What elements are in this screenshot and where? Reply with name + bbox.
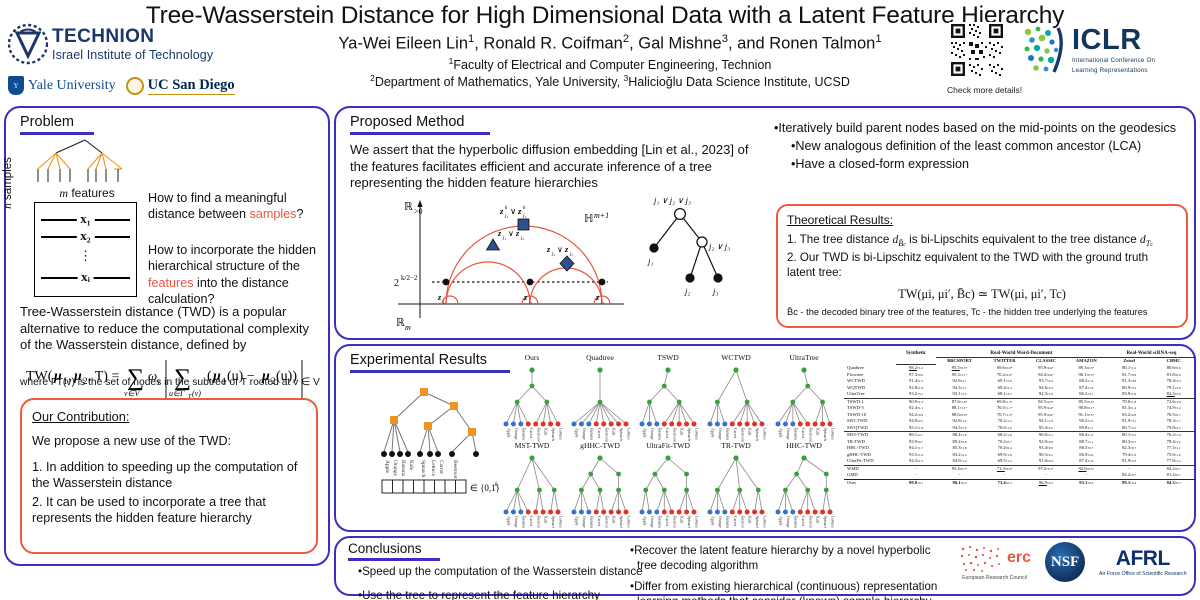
ucsd-logo: UC San Diego	[126, 77, 235, 95]
svg-text:Apple: Apple	[643, 516, 648, 526]
matrix-row-ellipsis: ⋮	[75, 248, 96, 264]
svg-text:z: z	[499, 206, 504, 216]
svg-text:z: z	[523, 293, 528, 302]
col-header-classic: CLASSIC	[1026, 358, 1066, 365]
experimental-title: Experimental Results	[350, 352, 510, 368]
hyperbolic-embedding-diagram: ℝ >0 ℝ m ℍ m+1 2 k/2−2 z j₁	[392, 186, 732, 334]
col-header-cbmc: CBMC	[1151, 358, 1196, 365]
svg-text:Orange: Orange	[392, 460, 398, 476]
svg-text:Spinach: Spinach	[619, 428, 624, 441]
svg-text:Banana: Banana	[521, 516, 526, 528]
svg-text:Apple: Apple	[711, 516, 716, 526]
svg-text:∨: ∨	[557, 245, 563, 254]
svg-text:Kale: Kale	[680, 428, 685, 436]
table-cell: 72.6±1.8	[1151, 398, 1196, 405]
row-label: TSWD-1	[844, 398, 896, 405]
table-cell: 87.6±1.9*	[936, 398, 983, 405]
tree-2: AppleOrangeBananaCarrotBeetrootKaleSpina…	[640, 367, 700, 442]
svg-text:Spinach: Spinach	[823, 428, 828, 441]
results-table-head: Synthetic Real-World Word-Document Real-…	[844, 350, 1196, 365]
method-bullet-list: •Iteratively build parent nodes based on…	[774, 120, 1190, 174]
svg-text:Lettuce: Lettuce	[763, 516, 768, 528]
row-label: WMD	[844, 465, 896, 472]
svg-text:Beetroot: Beetroot	[536, 428, 541, 443]
contribution-item-1: 1. In addition to speeding up the comput…	[32, 459, 306, 491]
yale-logo: Y Yale University	[8, 76, 116, 95]
svg-text:Spinach: Spinach	[823, 516, 828, 528]
svg-text:Orange: Orange	[514, 428, 519, 440]
tree-8: AppleOrangeBananaCarrotBeetrootKaleSpina…	[708, 455, 768, 528]
svg-text:j₁: j₁	[504, 213, 509, 219]
table-cell: 88.1±2.7	[896, 432, 936, 439]
svg-text:Lettuce: Lettuce	[627, 516, 632, 528]
conclusions-left-list: •Speed up the computation of the Wassers…	[358, 564, 658, 600]
svg-text:Apple: Apple	[779, 516, 784, 526]
table-cell: 89.1±0.4	[1107, 479, 1151, 486]
table-cell: 93.1±1.5	[936, 391, 983, 398]
yale-shield-icon: Y	[8, 76, 24, 95]
svg-text:Lettuce: Lettuce	[559, 428, 564, 440]
row-label: SWQTWD	[844, 425, 896, 432]
problem-title: Problem	[20, 114, 94, 130]
table-cell: 84.3±0.3	[1151, 479, 1196, 486]
svg-text:Spinach: Spinach	[551, 516, 556, 528]
svg-text:Apple: Apple	[711, 428, 716, 438]
svg-text:j₃: j₃	[600, 300, 604, 305]
svg-text:Carrot: Carrot	[665, 428, 670, 439]
svg-text:Carrot: Carrot	[529, 428, 534, 439]
table-cell: 80.1±3.3	[1107, 432, 1151, 439]
svg-text:∨: ∨	[508, 229, 514, 238]
table-cell: -	[896, 465, 936, 472]
svg-text:Quadtree: Quadtree	[586, 353, 614, 362]
svg-text:∨: ∨	[510, 206, 516, 216]
table-cell: 70.6±1.9	[983, 425, 1026, 432]
svg-text:j₁: j₁	[502, 236, 506, 241]
svg-text:Banana: Banana	[725, 516, 730, 528]
table-cell: -	[896, 472, 936, 479]
matrix-row-i: xᵢ	[77, 269, 94, 285]
theoretical-results-box: Theoretical Results: 1. The tree distanc…	[776, 204, 1188, 328]
svg-text:Lettuce: Lettuce	[627, 428, 632, 440]
table-cell: 69.8±1.3*	[983, 398, 1026, 405]
nsf-name: NSF	[1051, 554, 1079, 571]
svg-text:ℝ: ℝ	[396, 317, 405, 329]
svg-text:Lettuce: Lettuce	[695, 428, 700, 440]
svg-text:Carrot: Carrot	[665, 516, 670, 527]
svg-text:Carrot: Carrot	[529, 516, 534, 527]
erc-logo: erc European Research Council	[958, 543, 1031, 581]
affiliation-2: 2Department of Mathematics, Yale Univers…	[250, 73, 970, 89]
table-cell: 68.2±1.8	[983, 432, 1026, 439]
svg-text:m+1: m+1	[594, 211, 609, 220]
group-word-document: Real-World Word-Document	[936, 350, 1107, 358]
svg-text:z: z	[517, 206, 522, 216]
table-cell: 84.2±0.7	[1151, 465, 1196, 472]
tree-7: AppleOrangeBananaCarrotBeetrootKaleSpina…	[640, 455, 700, 528]
ground-truth-tree-diagram: Apple Orange Banana Kale Spinach Lettuce…	[380, 380, 500, 500]
svg-text:Orange: Orange	[582, 516, 587, 528]
svg-text:Orange: Orange	[718, 516, 723, 528]
svg-text:(v): (v)	[192, 389, 201, 398]
contribution-item-2: 2. It can be used to incorporate a tree …	[32, 494, 306, 526]
data-matrix: x₁ x₂ ⋮ xᵢ	[34, 202, 137, 297]
svg-text:Apple: Apple	[575, 516, 580, 526]
method-bullet-1: Iteratively build parent nodes based on …	[778, 121, 1176, 135]
panel-conclusions: Conclusions •Speed up the computation of…	[334, 536, 1196, 596]
table-cell: 69.6±0.8*	[983, 365, 1026, 372]
svg-text:Spinach: Spinach	[551, 428, 556, 441]
svg-text:Lettuce: Lettuce	[763, 428, 768, 440]
table-cell: 90.0±3.1	[1026, 432, 1066, 439]
matrix-row-1: x₁	[76, 211, 94, 227]
erc-dots-icon	[958, 543, 1004, 573]
question-1: How to find a meaningful distance betwee…	[148, 190, 324, 223]
page-title: Tree-Wasserstein Distance for High Dimen…	[140, 2, 1070, 30]
iclr-name: ICLR	[1072, 26, 1155, 55]
svg-text:j₁ ∨ j₂ ∨ j₃: j₁ ∨ j₂ ∨ j₃	[653, 195, 691, 205]
tree-1: AppleOrangeBananaCarrotBeetrootKaleSpina…	[572, 367, 632, 442]
table-cell: 71.3±0.6*	[983, 465, 1026, 472]
tree-6: AppleOrangeBananaCarrotBeetrootKaleSpina…	[572, 455, 632, 528]
author-list: Ya-Wei Eileen Lin1, Ronald R. Coifman2, …	[300, 33, 920, 54]
svg-text:Kale: Kale	[408, 460, 414, 471]
table-cell: 87.4±1.6	[1066, 458, 1107, 465]
svg-text:Beetroot: Beetroot	[808, 516, 813, 528]
erc-subtitle: European Research Council	[958, 575, 1031, 581]
table-cell: 82.3±2.6	[1151, 391, 1196, 398]
svg-text:Banana: Banana	[521, 428, 526, 440]
svg-text:Apple: Apple	[643, 428, 648, 438]
svg-text:j₁: j₁	[442, 300, 446, 305]
row-label: UltraFit-TWD	[844, 458, 896, 465]
conclusion-left-2: Use the tree to represent the feature hi…	[362, 589, 600, 600]
tree-comparison-grid: OursQuadtreeTSWD WCTWDUltraTree MST-TWDg…	[496, 352, 844, 528]
svg-text:z: z	[564, 245, 569, 254]
svg-text:j₁: j₁	[647, 256, 653, 266]
tree-0: AppleOrangeBananaCarrotBeetrootKaleSpina…	[504, 367, 564, 442]
svg-text:Carrot: Carrot	[733, 428, 738, 439]
method-title: Proposed Method	[350, 114, 490, 130]
theoretical-item-2: 2. Our TWD is bi-Lipschitz equivalent to…	[787, 250, 1177, 280]
svg-text:WCTWD: WCTWD	[721, 353, 751, 362]
svg-text:Carrot: Carrot	[597, 428, 602, 439]
svg-text:Orange: Orange	[650, 428, 655, 440]
matrix-row-2: x₂	[76, 228, 94, 244]
table-cell: 95.9±0.4*	[1026, 365, 1066, 372]
table-cell: 80.1±1.2	[1107, 365, 1151, 372]
svg-text:2: 2	[394, 278, 399, 289]
svg-text:Banana: Banana	[589, 428, 594, 440]
svg-text:j₃: j₃	[569, 252, 573, 257]
method-title-rule	[350, 132, 490, 135]
svg-text:Ours: Ours	[525, 353, 540, 362]
table-cell: 95.5±0.5*	[936, 365, 983, 372]
m-features-label: m features	[32, 186, 142, 201]
table-cell: 95.4±2.0	[1026, 425, 1066, 432]
table-cell: 83.9±1.6	[1107, 391, 1151, 398]
svg-text:Apple: Apple	[779, 428, 784, 438]
table-cell: 97.2±0.1*	[1026, 465, 1066, 472]
table-cell: 94.5±0.5*	[1026, 398, 1066, 405]
table-cell: 81.9±3.3	[1107, 458, 1151, 465]
tree-9: AppleOrangeBananaCarrotBeetrootKaleSpina…	[776, 455, 836, 528]
table-cell: 89.8±1.1	[1066, 425, 1107, 432]
svg-text:Kale: Kale	[544, 428, 549, 436]
table-cell: 95.1±1.8	[896, 425, 936, 432]
svg-text:Spinach: Spinach	[687, 516, 692, 528]
svg-text:k/2−2: k/2−2	[401, 274, 418, 282]
svg-text:Banana: Banana	[793, 428, 798, 440]
table-cell: 86.4±1.2	[1066, 432, 1107, 439]
svg-text:z: z	[546, 245, 551, 254]
svg-text:Kale: Kale	[748, 516, 753, 524]
table-row: GMD-----84.2±0.781.4±0.7	[844, 472, 1196, 479]
svg-text:Kale: Kale	[612, 516, 617, 524]
svg-text:Banana: Banana	[657, 428, 662, 440]
tree-4: AppleOrangeBananaCarrotBeetrootKaleSpina…	[776, 367, 836, 442]
formula-caption: where ΓT(v) is the set of nodes in the s…	[20, 376, 322, 388]
poster-header: TECHNION Israel Institute of Technology …	[0, 0, 1200, 104]
contribution-box: Our Contribution: We propose a new use o…	[20, 398, 318, 554]
svg-text:Banana: Banana	[589, 516, 594, 528]
method-bullet-3: Have a closed-form expression	[795, 157, 969, 171]
table-cell: 96.9±0.2	[1026, 479, 1066, 486]
technion-subtitle: Israel Institute of Technology	[52, 48, 213, 62]
table-cell: -	[936, 472, 983, 479]
ucsd-seal-icon	[126, 77, 144, 95]
svg-text:ℍ: ℍ	[584, 213, 593, 225]
svg-text:ℝ: ℝ	[404, 201, 413, 213]
conclusions-title: Conclusions	[348, 541, 440, 556]
table-cell: -	[1026, 472, 1066, 479]
iclr-mark-icon	[1018, 24, 1066, 76]
table-cell: -	[1066, 472, 1107, 479]
svg-text:Kale: Kale	[680, 516, 685, 524]
svg-text:Lettuce: Lettuce	[831, 428, 836, 440]
svg-text:Banana: Banana	[793, 516, 798, 528]
svg-text:Banana: Banana	[725, 428, 730, 440]
method-intro: We assert that the hyperbolic diffusion …	[350, 142, 760, 192]
afrl-subtitle: Air Force Office of Scientific Research	[1099, 571, 1187, 578]
table-cell: 96.1±0.4	[936, 479, 983, 486]
col-header-bbcsport: BBCSPORT	[936, 358, 983, 365]
tree-5: AppleOrangeBananaCarrotBeetrootKaleSpina…	[504, 455, 564, 528]
table-cell: 90.9±1.3	[896, 398, 936, 405]
table-cell: 86.2±3.1	[1066, 391, 1107, 398]
svg-text:Carrot: Carrot	[801, 516, 806, 527]
svg-text:TSWD: TSWD	[657, 353, 679, 362]
svg-text:k: k	[523, 205, 526, 211]
funder-logos: erc European Research Council NSF AFRL A…	[958, 542, 1187, 582]
group-header-row: Synthetic Real-World Word-Document Real-…	[844, 350, 1196, 358]
svg-text:j₂: j₂	[551, 252, 555, 257]
table-cell: 81.4±0.7	[1151, 472, 1196, 479]
panel-problem: Problem m features x₁ x₂	[4, 106, 330, 566]
svg-text:gHHC-TWD: gHHC-TWD	[580, 441, 620, 450]
table-row: UltraTree93.2±3.193.1±1.568.1±3.292.3±1.…	[844, 391, 1196, 398]
poster-root: TECHNION Israel Institute of Technology …	[0, 0, 1200, 600]
iclr-subtitle-2: Learning Representations	[1072, 68, 1155, 74]
svg-text:Lettuce: Lettuce	[831, 516, 836, 528]
svg-text:Lettuce: Lettuce	[559, 516, 564, 528]
table-cell: 99.8±0.1	[896, 479, 936, 486]
table-cell: 94.5±1.0	[936, 425, 983, 432]
svg-text:Apple: Apple	[507, 516, 512, 526]
experimental-title-rule	[350, 370, 510, 373]
svg-text:Beetroot: Beetroot	[604, 516, 609, 528]
iclr-logo: ICLR International Conference On Learnin…	[1018, 24, 1155, 76]
table-row: MST-TWD88.1±2.788.4±1.968.2±1.890.0±3.18…	[844, 432, 1196, 439]
svg-text:Kale: Kale	[816, 516, 821, 524]
group-scrna: Real-World scRNA-seq	[1107, 350, 1196, 358]
svg-text:Lettuce: Lettuce	[430, 460, 436, 477]
contribution-lead: We propose a new use of the TWD:	[32, 433, 306, 449]
svg-text:Beetroot: Beetroot	[536, 516, 541, 528]
qr-code-block[interactable]: Check more details!	[947, 22, 1007, 95]
col-header-amazon: AMAZON	[1066, 358, 1107, 365]
svg-text:z: z	[437, 293, 442, 302]
svg-text:Kale: Kale	[816, 428, 821, 436]
table-cell: 79.6±1.8	[1107, 398, 1151, 405]
results-table: Synthetic Real-World Word-Document Real-…	[844, 350, 1196, 486]
table-cell: 84.9±1.4	[936, 458, 983, 465]
qr-code-icon[interactable]	[949, 22, 1005, 78]
method-bullet-2: New analogous definition of the least co…	[795, 139, 1141, 153]
svg-text:j₂: j₂	[520, 236, 524, 241]
twd-intro: Tree-Wasserstein distance (TWD) is a pop…	[20, 304, 320, 354]
table-cell: 85.5±0.6*	[1066, 398, 1107, 405]
table-cell: 92.3±1.9	[1026, 391, 1066, 398]
svg-text:j₂: j₂	[528, 300, 532, 305]
n-samples-label: n samples	[2, 148, 14, 218]
table-cell: 95.4±0.7*	[936, 465, 983, 472]
svg-text:Orange: Orange	[786, 516, 791, 528]
table-cell: -	[1107, 465, 1151, 472]
tree-3: AppleOrangeBananaCarrotBeetrootKaleSpina…	[708, 367, 768, 442]
svg-text:Kale: Kale	[748, 428, 753, 436]
svg-text:Spinach: Spinach	[755, 428, 760, 441]
svg-text:Beetroot: Beetroot	[452, 460, 458, 479]
conclusion-right-2: Differ from existing hierarchical (conti…	[634, 580, 937, 600]
table-cell: 94.3±1.2	[896, 458, 936, 465]
svg-text:Spinach: Spinach	[619, 516, 624, 528]
qr-caption: Check more details!	[947, 85, 1007, 95]
afrl-logo: AFRL Air Force Office of Scientific Rese…	[1099, 547, 1187, 578]
table-cell: -	[983, 472, 1026, 479]
group-synthetic: Synthetic	[896, 350, 936, 358]
affiliation-1: 1Faculty of Electrical and Computer Engi…	[300, 56, 920, 72]
contribution-heading: Our Contribution:	[32, 409, 306, 424]
question-2: How to incorporate the hidden hierarchic…	[148, 242, 324, 307]
table-cell: 76.2±1.9	[1151, 432, 1196, 439]
svg-text:Spinach: Spinach	[420, 460, 426, 478]
partner-logos: Y Yale University UC San Diego	[8, 76, 235, 95]
table-cell: 79.8±2.5	[1151, 425, 1196, 432]
svg-text:Orange: Orange	[650, 516, 655, 528]
theoretical-note: B̄c - the decoded binary tree of the fea…	[787, 306, 1177, 318]
svg-text:Beetroot: Beetroot	[740, 428, 745, 443]
iclr-subtitle-1: International Conference On	[1072, 58, 1155, 64]
svg-text:Kale: Kale	[612, 428, 617, 436]
table-row: Quadtree98.2±1.295.5±0.5*69.6±0.8*95.9±0…	[844, 365, 1196, 372]
row-label: MST-TWD	[844, 432, 896, 439]
technion-mark-icon	[8, 22, 48, 66]
svg-text:j₃: j₃	[522, 213, 527, 219]
panel-experimental-results: Experimental Results Apple Orange Banana	[334, 344, 1196, 532]
row-label: Quadtree	[844, 365, 896, 372]
svg-text:Beetroot: Beetroot	[740, 516, 745, 528]
table-cell: 88.4±1.9	[936, 432, 983, 439]
table-cell: 80.7±2.5	[1107, 425, 1151, 432]
svg-text:UltraTree: UltraTree	[789, 353, 819, 362]
svg-text:Apple: Apple	[507, 428, 512, 438]
svg-text:k: k	[505, 205, 508, 211]
table-cell: 91.6±0.9	[1026, 458, 1066, 465]
svg-text:Banana: Banana	[657, 516, 662, 528]
svg-text:j₂: j₂	[684, 286, 690, 296]
svg-text:z: z	[497, 229, 502, 238]
conclusion-right-1: Recover the latent feature hierarchy by …	[634, 544, 930, 572]
afrl-name: AFRL	[1099, 547, 1187, 571]
results-table-body: Quadtree98.2±1.295.5±0.5*69.6±0.8*95.9±0…	[844, 365, 1196, 487]
hierarchy-tree-icon	[30, 136, 140, 184]
svg-text:MST-TWD: MST-TWD	[515, 441, 550, 450]
erc-name: erc	[1007, 549, 1031, 567]
conclusion-left-1: Speed up the computation of the Wasserst…	[362, 565, 643, 578]
problem-title-rule	[20, 132, 94, 135]
svg-text:Carrot: Carrot	[801, 428, 806, 439]
svg-text:Carrot: Carrot	[733, 516, 738, 527]
table-cell: 93.2±3.1	[896, 391, 936, 398]
col-header-twitter: TWITTER	[983, 358, 1026, 365]
svg-text:Beetroot: Beetroot	[672, 428, 677, 443]
conclusions-right-list: •Recover the latent feature hierarchy by…	[630, 543, 946, 600]
table-cell: 98.2±1.2	[896, 365, 936, 372]
svg-text:Apple: Apple	[384, 460, 390, 474]
svg-text:Apple: Apple	[575, 428, 580, 438]
svg-text:HHC-TWD: HHC-TWD	[786, 441, 822, 450]
svg-text:Kale: Kale	[544, 516, 549, 524]
svg-text:Carrot: Carrot	[438, 460, 444, 474]
svg-text:UltraFit-TWD: UltraFit-TWD	[646, 441, 690, 450]
svg-text:TR-TWD: TR-TWD	[721, 441, 751, 450]
table-cell: 77.8±1.2	[1151, 458, 1196, 465]
svg-text:j₂ ∨ j₃: j₂ ∨ j₃	[708, 241, 730, 251]
svg-text:Orange: Orange	[582, 428, 587, 440]
row-label: Ours	[844, 479, 896, 486]
svg-text:Lettuce: Lettuce	[695, 516, 700, 528]
svg-text:Spinach: Spinach	[687, 428, 692, 441]
svg-text:Orange: Orange	[514, 516, 519, 528]
table-row: SWQTWD95.1±1.894.5±1.070.6±1.995.4±2.089…	[844, 425, 1196, 432]
results-table-wrap: Synthetic Real-World Word-Document Real-…	[844, 350, 1196, 486]
table-cell: 92.6±0.3*	[1066, 465, 1107, 472]
table-cell: 69.5±1.2	[983, 458, 1026, 465]
svg-text:Banana: Banana	[400, 460, 406, 477]
table-row: TSWD-190.9±1.387.6±1.9*69.8±1.3*94.5±0.5…	[844, 398, 1196, 405]
svg-text:m: m	[405, 323, 411, 332]
svg-text:Beetroot: Beetroot	[604, 428, 609, 443]
row-label: UltraTree	[844, 391, 896, 398]
svg-text:>0: >0	[414, 207, 423, 216]
svg-text:Orange: Orange	[718, 428, 723, 440]
svg-text:Beetroot: Beetroot	[808, 428, 813, 443]
svg-text:j₃: j₃	[712, 286, 718, 296]
column-header-row: BBCSPORTTWITTERCLASSICAMAZONZeiselCBMC	[844, 358, 1196, 365]
col-header-zeisel: Zeisel	[1107, 358, 1151, 365]
conclusions-title-rule	[348, 558, 440, 561]
